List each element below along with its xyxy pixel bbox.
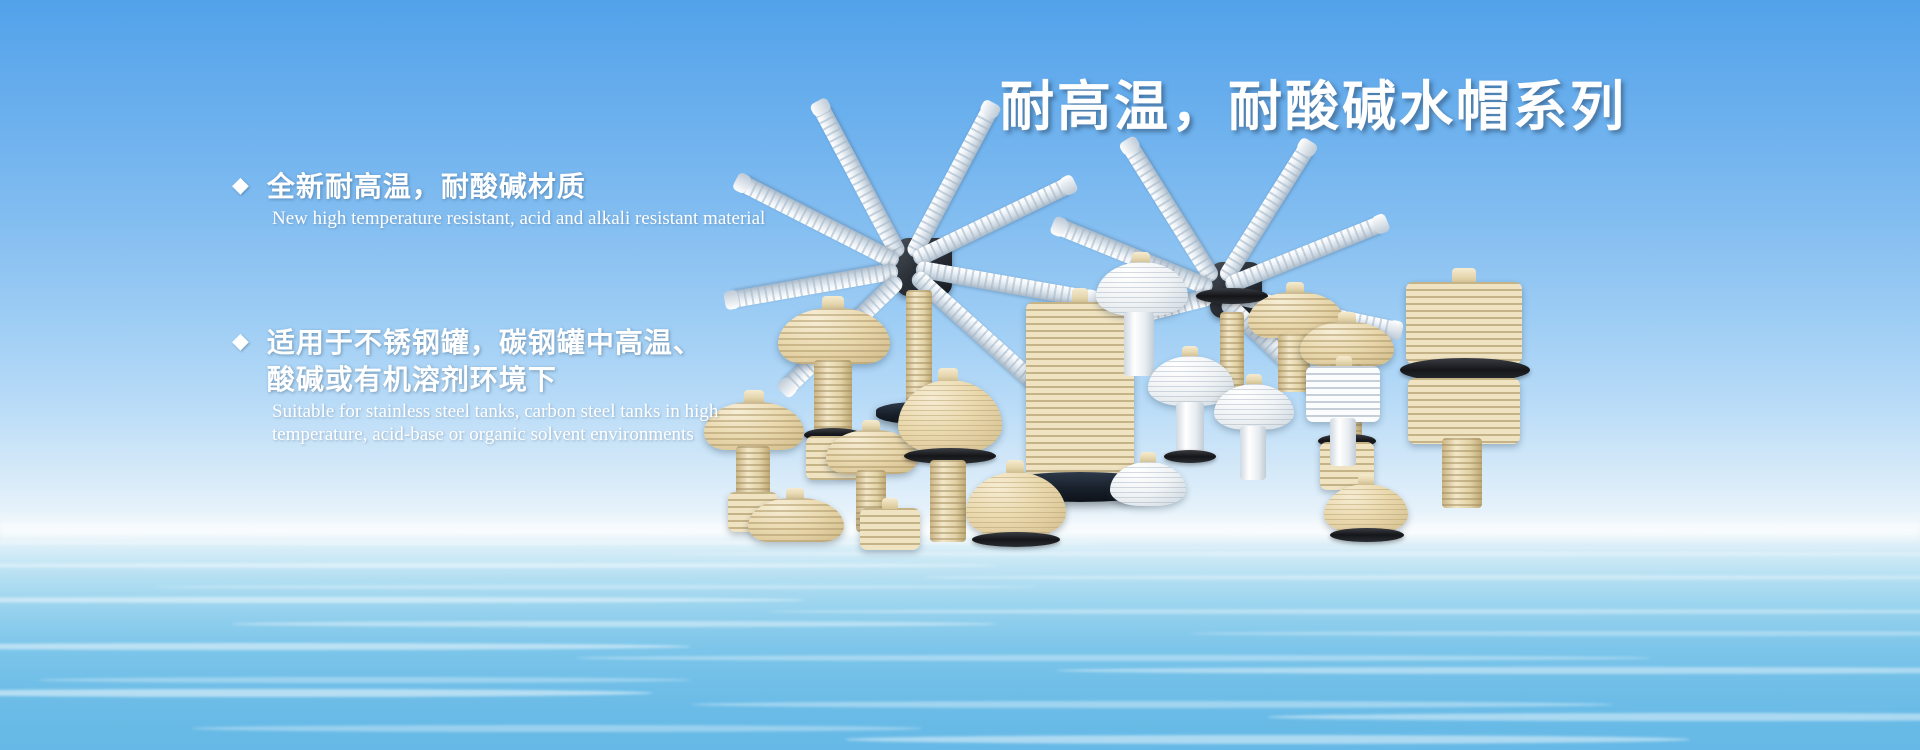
feature-1-title-cn: 全新耐高温，耐酸碱材质: [267, 168, 586, 205]
bell-cap: [1324, 484, 1408, 534]
rubber-gasket: [1196, 288, 1268, 304]
feature-1-subtitle-en: New high temperature resistant, acid and…: [272, 207, 952, 230]
nozzle-stem: [1124, 312, 1154, 376]
feature-list: ◆ 全新耐高温，耐酸碱材质 New high temperature resis…: [232, 168, 952, 446]
white-filter-body: [1306, 366, 1380, 422]
feature-item-2: ◆ 适用于不锈钢罐，碳钢罐中高温、 酸碱或有机溶剂环境下 Suitable fo…: [232, 324, 952, 446]
nozzle-slot-body: [860, 508, 920, 550]
feature-2-subtitle-en-line1: Suitable for stainless steel tanks, carb…: [272, 400, 952, 423]
diamond-bullet-icon: ◆: [232, 324, 249, 358]
filter-cap-body: [1408, 378, 1520, 444]
nozzle-stem: [1330, 418, 1356, 466]
nozzle-stem: [930, 460, 966, 542]
page-title: 耐高温，耐酸碱水帽系列: [1000, 62, 1627, 141]
rubber-gasket: [972, 532, 1060, 547]
promo-banner: 耐高温，耐酸碱水帽系列 ◆ 全新耐高温，耐酸碱材质 New high tempe…: [0, 0, 1920, 750]
rubber-gasket: [1330, 528, 1404, 542]
filter-cap-body: [1406, 282, 1522, 364]
nozzle-knob: [882, 498, 898, 509]
rubber-gasket: [1164, 450, 1216, 463]
feature-2-title-cn-line1: 适用于不锈钢罐，碳钢罐中高温、: [267, 324, 702, 361]
feature-item-1: ◆ 全新耐高温，耐酸碱材质 New high temperature resis…: [232, 168, 952, 230]
nozzle-stem: [1442, 438, 1482, 508]
water-surface: [0, 525, 1920, 750]
feature-2-subtitle-en-line2: temperature, acid-base or organic solven…: [272, 423, 952, 446]
diamond-bullet-icon: ◆: [232, 168, 249, 202]
tiered-cap: [748, 498, 844, 542]
nozzle-stem: [1240, 426, 1266, 480]
white-cap: [1110, 462, 1186, 506]
filter-cap-body: [1026, 302, 1134, 478]
feature-2-title-cn-line2: 酸碱或有机溶剂环境下: [267, 361, 702, 398]
